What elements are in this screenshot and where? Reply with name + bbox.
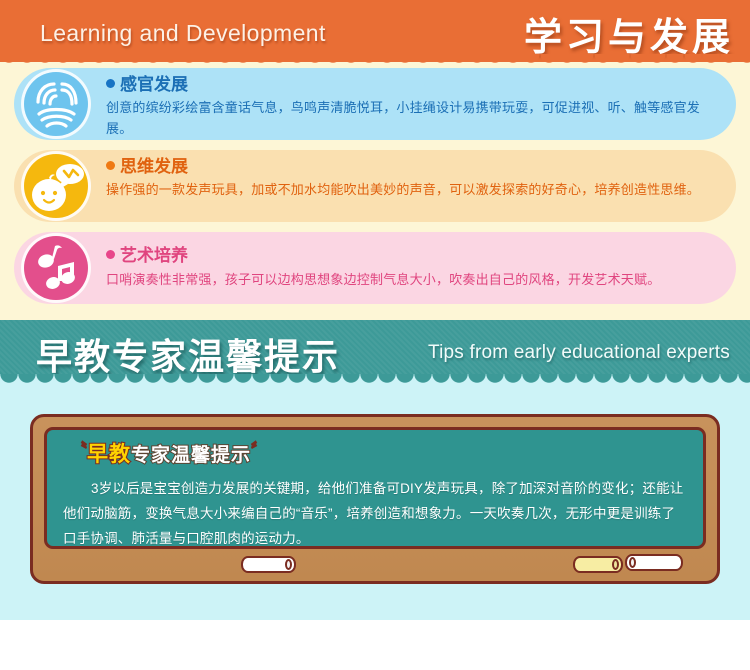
learning-cards-list: 感官发展 创意的缤纷彩绘富含童话气息，鸟鸣声清脆悦耳，小挂绳设计易携带玩耍，可促…	[0, 54, 750, 320]
card-title: 思维发展	[106, 157, 710, 177]
chalk-end-icon	[612, 559, 619, 570]
chalk-end-icon	[629, 557, 636, 568]
baby-speech-bubble-icon	[24, 154, 88, 218]
header-chinese-title: 学习与发展	[524, 6, 734, 61]
blackboard-frame: 〝早教专家温馨提示〞 3岁以后是宝宝创造力发展的关键期，给他们准备可DIY发声玩…	[30, 414, 720, 584]
sensory-waves-icon	[24, 72, 88, 136]
card-art-cultivation[interactable]: 艺术培养 口哨演奏性非常强，孩子可以边构思想象边控制气息大小，吹奏出自己的风格，…	[14, 232, 736, 304]
spark-right-icon: 〞	[251, 438, 267, 464]
chalk-white-right[interactable]	[625, 554, 683, 571]
card-thinking-development[interactable]: 思维发展 操作强的一款发声玩具，加或不加水均能吹出美妙的声音，可以激发探索的好奇…	[14, 150, 736, 222]
chalk-white-left[interactable]	[241, 556, 296, 573]
card-sensory-development[interactable]: 感官发展 创意的缤纷彩绘富含童话气息，鸟鸣声清脆悦耳，小挂绳设计易携带玩耍，可促…	[14, 68, 736, 140]
bullet-dot-icon	[106, 161, 115, 170]
learning-development-header: Learning and Development 学习与发展	[0, 0, 750, 62]
chalk-end-icon	[285, 559, 292, 570]
blackboard-surface: 〝早教专家温馨提示〞 3岁以后是宝宝创造力发展的关键期，给他们准备可DIY发声玩…	[44, 427, 706, 549]
card-description: 操作强的一款发声玩具，加或不加水均能吹出美妙的声音，可以激发探索的好奇心，培养创…	[106, 179, 710, 200]
blackboard-body-text: 3岁以后是宝宝创造力发展的关键期，给他们准备可DIY发声玩具，除了加深对音阶的变…	[63, 476, 685, 549]
spark-left-icon: 〝	[71, 438, 87, 464]
bullet-dot-icon	[106, 250, 115, 259]
expert-tips-banner: 早教专家温馨提示 Tips from early educational exp…	[0, 320, 750, 382]
card-title: 感官发展	[106, 75, 710, 95]
card-description: 创意的缤纷彩绘富含童话气息，鸟鸣声清脆悦耳，小挂绳设计易携带玩耍，可促进视、听、…	[106, 97, 710, 139]
banner-scallop-edge	[0, 374, 750, 388]
chalk-yellow[interactable]	[573, 556, 623, 573]
banner-english-title: Tips from early educational experts	[428, 342, 730, 364]
bullet-dot-icon	[106, 79, 115, 88]
card-title: 艺术培养	[106, 246, 710, 266]
header-english-title: Learning and Development	[40, 20, 326, 47]
blackboard-title: 〝早教专家温馨提示〞	[71, 438, 267, 469]
banner-chinese-title: 早教专家温馨提示	[36, 328, 340, 380]
blackboard-title-highlight: 早教	[87, 443, 131, 466]
card-description: 口哨演奏性非常强，孩子可以边构思想象边控制气息大小，吹奏出自己的风格，开发艺术天…	[106, 269, 710, 290]
blackboard-title-rest: 专家温馨提示	[131, 445, 251, 466]
music-notes-icon	[24, 236, 88, 300]
